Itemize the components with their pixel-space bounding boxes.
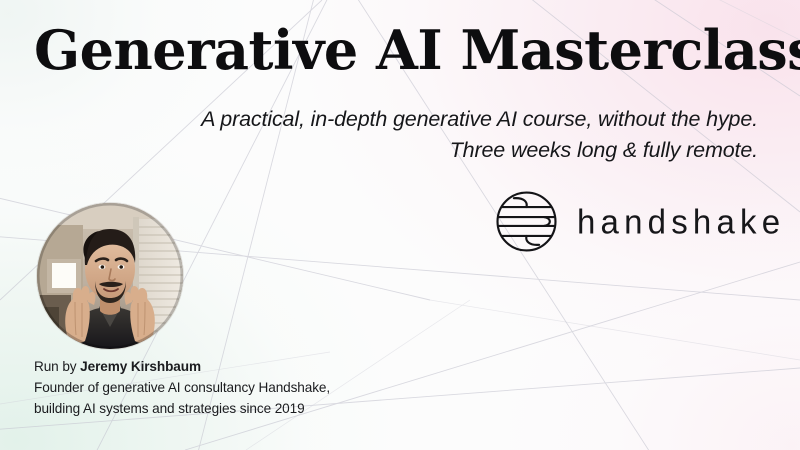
page-title: Generative AI Masterclass [34,22,774,79]
subtitle-line-1: A practical, in-depth generative AI cour… [98,104,758,135]
credit-run-by-prefix: Run by [34,359,80,374]
credit-line-3: building AI systems and strategies since… [34,399,330,420]
credit-line-2: Founder of generative AI consultancy Han… [34,378,330,399]
presenter-name: Jeremy Kirshbaum [80,359,201,374]
handshake-logo: handshake [495,190,785,253]
presentation-slide: Generative AI Masterclass A practical, i… [0,0,800,450]
credit-line-run-by: Run by Jeremy Kirshbaum [34,357,330,378]
avatar [37,203,183,349]
handshake-globe-icon [495,190,558,253]
handshake-wordmark: handshake [577,204,785,238]
subtitle-line-2: Three weeks long & fully remote. [98,135,758,166]
presenter-credit: Run by Jeremy Kirshbaum Founder of gener… [34,357,330,419]
slide-subtitle: A practical, in-depth generative AI cour… [98,104,758,167]
